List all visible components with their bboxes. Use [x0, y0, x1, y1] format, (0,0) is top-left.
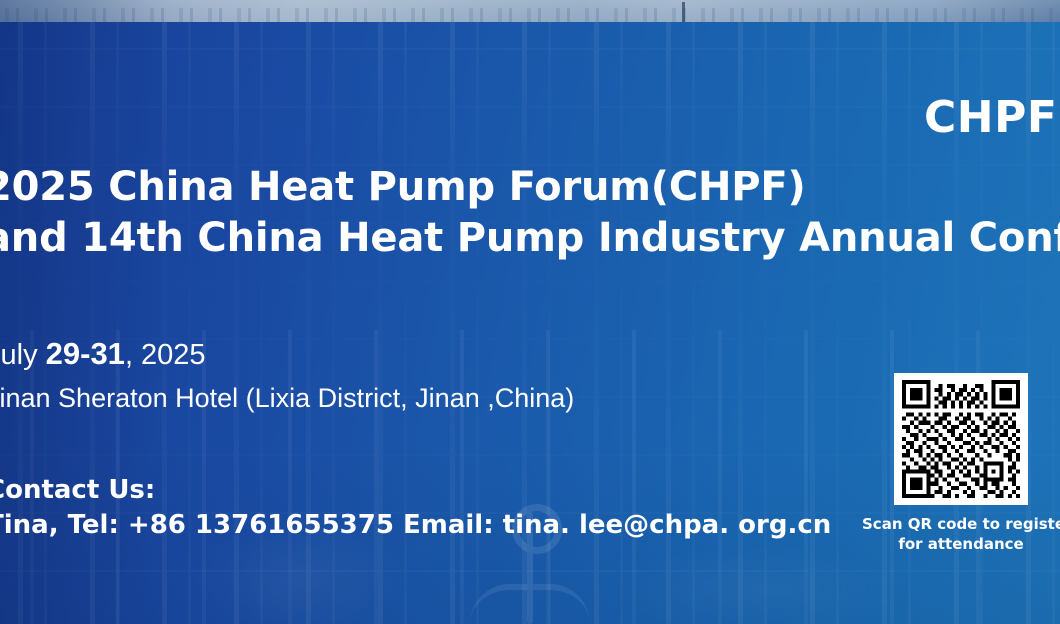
- headline-block: 2025 China Heat Pump Forum(CHPF) and 14t…: [0, 162, 1060, 264]
- skyline-spire: [682, 2, 685, 24]
- event-venue: Jinan Sheraton Hotel (Lixia District, Ji…: [0, 376, 886, 420]
- conference-banner: CHPF 2025 China Heat Pump Forum(CHPF) an…: [0, 0, 1060, 624]
- qr-caption-line-2: for attendance: [862, 534, 1060, 554]
- qr-caption: Scan QR code to register for attendance: [862, 514, 1060, 554]
- date-days: 29-31: [46, 336, 125, 371]
- contact-details: Tina, Tel: +86 13761655375 Email: tina. …: [0, 507, 886, 543]
- qr-block: Scan QR code to register for attendance: [862, 373, 1060, 554]
- event-date: July 29-31, 2025: [0, 333, 886, 376]
- contact-block: Contact Us: Tina, Tel: +86 13761655375 E…: [0, 474, 886, 543]
- qr-code-image[interactable]: [902, 380, 1020, 498]
- contact-label: Contact Us:: [0, 474, 886, 507]
- headline-line-1: 2025 China Heat Pump Forum(CHPF): [0, 162, 1060, 213]
- skyline-photo-strip: [0, 0, 1060, 24]
- tower-deck: [470, 584, 590, 624]
- date-suffix: , 2025: [125, 339, 206, 371]
- date-prefix: July: [0, 339, 46, 371]
- headline-line-2: and 14th China Heat Pump Industry Annual…: [0, 213, 1060, 264]
- qr-caption-line-1: Scan QR code to register: [862, 514, 1060, 534]
- event-meta-block: July 29-31, 2025 Jinan Sheraton Hotel (L…: [0, 333, 886, 420]
- chpf-logo: CHPF: [924, 92, 1057, 143]
- qr-code-panel[interactable]: [894, 373, 1028, 505]
